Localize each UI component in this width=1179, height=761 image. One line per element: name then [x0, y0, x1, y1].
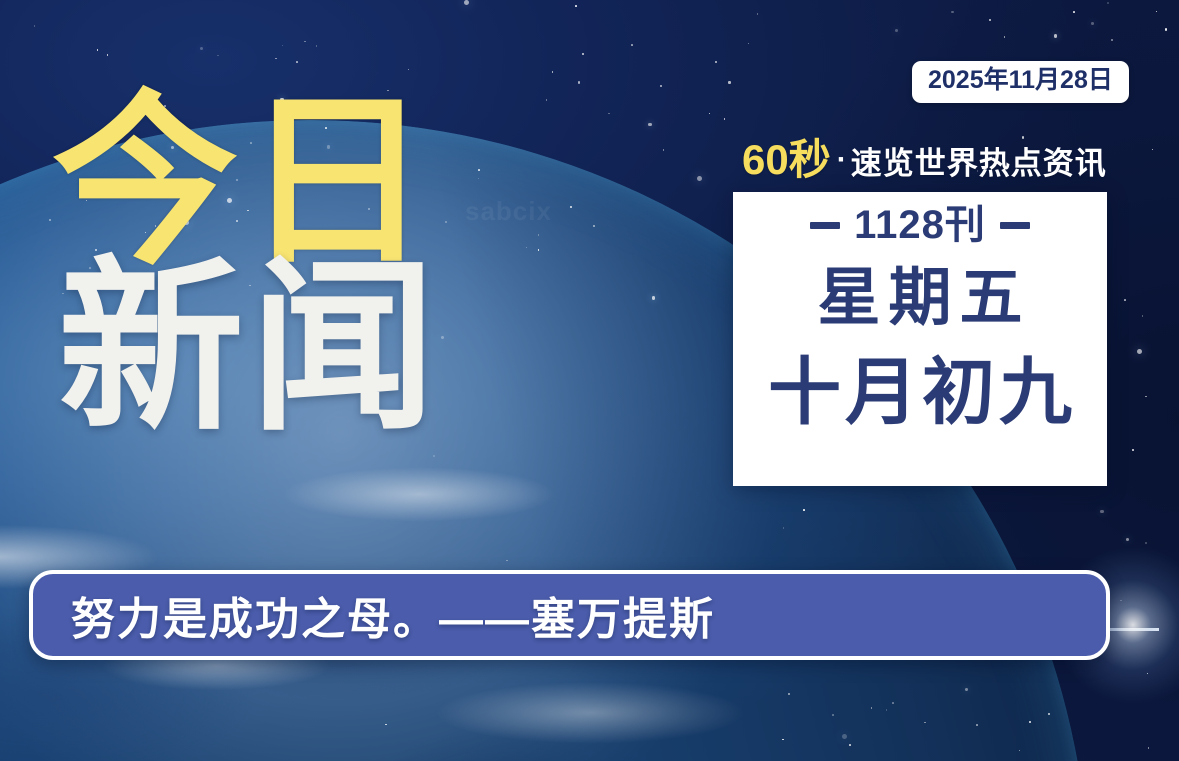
weekday-label: 星期五	[810, 267, 1031, 330]
page-title: 今日 新闻	[52, 92, 442, 441]
quote-bar: 努力是成功之母。——塞万提斯	[29, 570, 1110, 660]
tagline-text: 速览世界热点资讯	[851, 146, 1107, 181]
lunar-date-label: 十月初九	[764, 356, 1076, 429]
tagline-separator: ·	[837, 143, 847, 176]
tagline: 60秒·速览世界热点资讯	[742, 139, 1107, 181]
issue-row: 1128刊	[810, 205, 1030, 245]
info-card: 1128刊 星期五 十月初九	[733, 192, 1107, 486]
issue-number: 1128刊	[854, 205, 986, 245]
dash-right-icon	[1000, 222, 1030, 229]
page-title-line-2: 新闻	[58, 258, 442, 440]
news-poster: sabcix 今日 新闻 2025年11月28日 60秒·速览世界热点资讯 11…	[0, 0, 1179, 761]
quote-text: 努力是成功之母。——塞万提斯	[71, 583, 715, 647]
date-badge: 2025年11月28日	[912, 61, 1129, 103]
dash-left-icon	[810, 222, 840, 229]
tagline-highlight: 60秒	[742, 136, 831, 183]
